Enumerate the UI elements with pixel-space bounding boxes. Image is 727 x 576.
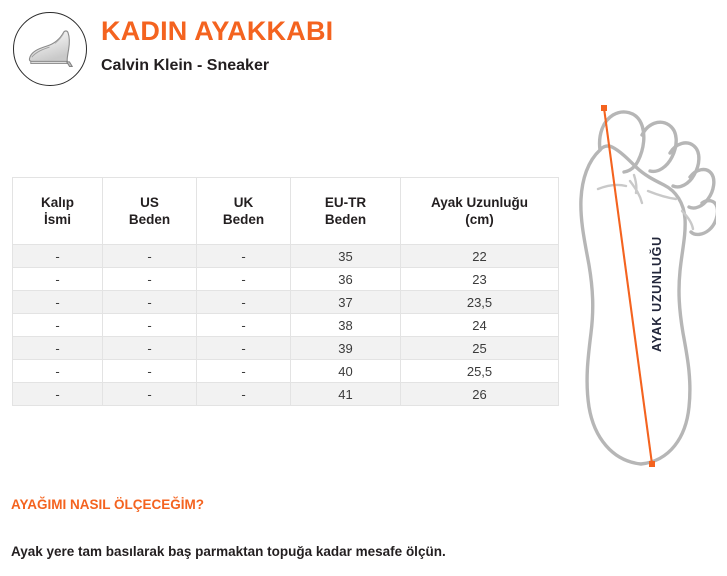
- cell-us-beden: -: [103, 360, 197, 383]
- page-subtitle: Calvin Klein - Sneaker: [101, 55, 531, 77]
- cell-kalip-ismi: -: [13, 360, 103, 383]
- column-header-line1: US: [103, 194, 196, 211]
- cell-eu-tr-beden: 39: [291, 337, 401, 360]
- column-header-eu-tr-beden: EU-TR Beden: [291, 178, 401, 245]
- table-row: - - - 41 26: [13, 383, 559, 406]
- brand-logo-circle: [13, 12, 87, 86]
- cell-ayak-uzunlugu: 24: [401, 314, 559, 337]
- foot-length-label: AYAK UZUNLUĞU: [648, 228, 666, 360]
- column-header-line1: Ayak Uzunluğu: [401, 194, 558, 211]
- column-header-uk-beden: UK Beden: [197, 178, 291, 245]
- size-chart-table: Kalıp İsmi US Beden UK Beden EU-TR Beden…: [12, 177, 559, 406]
- table-row: - - - 39 25: [13, 337, 559, 360]
- column-header-line2: Beden: [197, 211, 290, 228]
- cell-kalip-ismi: -: [13, 383, 103, 406]
- cell-us-beden: -: [103, 337, 197, 360]
- table-row: - - - 35 22: [13, 245, 559, 268]
- cell-uk-beden: -: [197, 337, 291, 360]
- high-heel-shoe-icon: [22, 26, 78, 72]
- cell-uk-beden: -: [197, 360, 291, 383]
- cell-uk-beden: -: [197, 314, 291, 337]
- cell-eu-tr-beden: 36: [291, 268, 401, 291]
- title-block: KADIN AYAKKABI Calvin Klein - Sneaker: [101, 14, 531, 77]
- table-body: - - - 35 22 - - - 36 23 - - - 37 23,5: [13, 245, 559, 406]
- cell-ayak-uzunlugu: 23: [401, 268, 559, 291]
- table-row: - - - 37 23,5: [13, 291, 559, 314]
- how-to-measure-instruction: Ayak yere tam basılarak baş parmaktan to…: [11, 543, 611, 561]
- cell-ayak-uzunlugu: 26: [401, 383, 559, 406]
- cell-us-beden: -: [103, 291, 197, 314]
- cell-ayak-uzunlugu: 22: [401, 245, 559, 268]
- table-header-row: Kalıp İsmi US Beden UK Beden EU-TR Beden…: [13, 178, 559, 245]
- cell-kalip-ismi: -: [13, 337, 103, 360]
- column-header-line1: EU-TR: [291, 194, 400, 211]
- cell-uk-beden: -: [197, 291, 291, 314]
- cell-kalip-ismi: -: [13, 314, 103, 337]
- how-to-measure-section: AYAĞIMI NASIL ÖLÇECEĞİM? Ayak yere tam b…: [11, 496, 611, 561]
- cell-us-beden: -: [103, 268, 197, 291]
- table-row: - - - 38 24: [13, 314, 559, 337]
- page-header: KADIN AYAKKABI Calvin Klein - Sneaker: [0, 0, 727, 100]
- table-header: Kalıp İsmi US Beden UK Beden EU-TR Beden…: [13, 178, 559, 245]
- cell-eu-tr-beden: 35: [291, 245, 401, 268]
- column-header-line1: UK: [197, 194, 290, 211]
- cell-kalip-ismi: -: [13, 291, 103, 314]
- cell-ayak-uzunlugu: 25: [401, 337, 559, 360]
- cell-uk-beden: -: [197, 268, 291, 291]
- cell-ayak-uzunlugu: 23,5: [401, 291, 559, 314]
- column-header-line2: Beden: [103, 211, 196, 228]
- cell-ayak-uzunlugu: 25,5: [401, 360, 559, 383]
- cell-us-beden: -: [103, 245, 197, 268]
- cell-uk-beden: -: [197, 383, 291, 406]
- cell-eu-tr-beden: 41: [291, 383, 401, 406]
- column-header-kalip-ismi: Kalıp İsmi: [13, 178, 103, 245]
- column-header-ayak-uzunlugu: Ayak Uzunluğu (cm): [401, 178, 559, 245]
- cell-us-beden: -: [103, 314, 197, 337]
- cell-eu-tr-beden: 40: [291, 360, 401, 383]
- table-row: - - - 36 23: [13, 268, 559, 291]
- how-to-measure-title: AYAĞIMI NASIL ÖLÇECEĞİM?: [11, 496, 611, 514]
- table-row: - - - 40 25,5: [13, 360, 559, 383]
- column-header-line2: İsmi: [13, 211, 102, 228]
- cell-eu-tr-beden: 37: [291, 291, 401, 314]
- page-title: KADIN AYAKKABI: [101, 14, 531, 48]
- column-header-line2: Beden: [291, 211, 400, 228]
- cell-us-beden: -: [103, 383, 197, 406]
- column-header-line2: (cm): [401, 211, 558, 228]
- cell-uk-beden: -: [197, 245, 291, 268]
- column-header-us-beden: US Beden: [103, 178, 197, 245]
- cell-eu-tr-beden: 38: [291, 314, 401, 337]
- cell-kalip-ismi: -: [13, 268, 103, 291]
- size-chart-container: Kalıp İsmi US Beden UK Beden EU-TR Beden…: [12, 177, 558, 406]
- foot-measurement-diagram: [556, 95, 716, 485]
- column-header-line1: Kalıp: [13, 194, 102, 211]
- cell-kalip-ismi: -: [13, 245, 103, 268]
